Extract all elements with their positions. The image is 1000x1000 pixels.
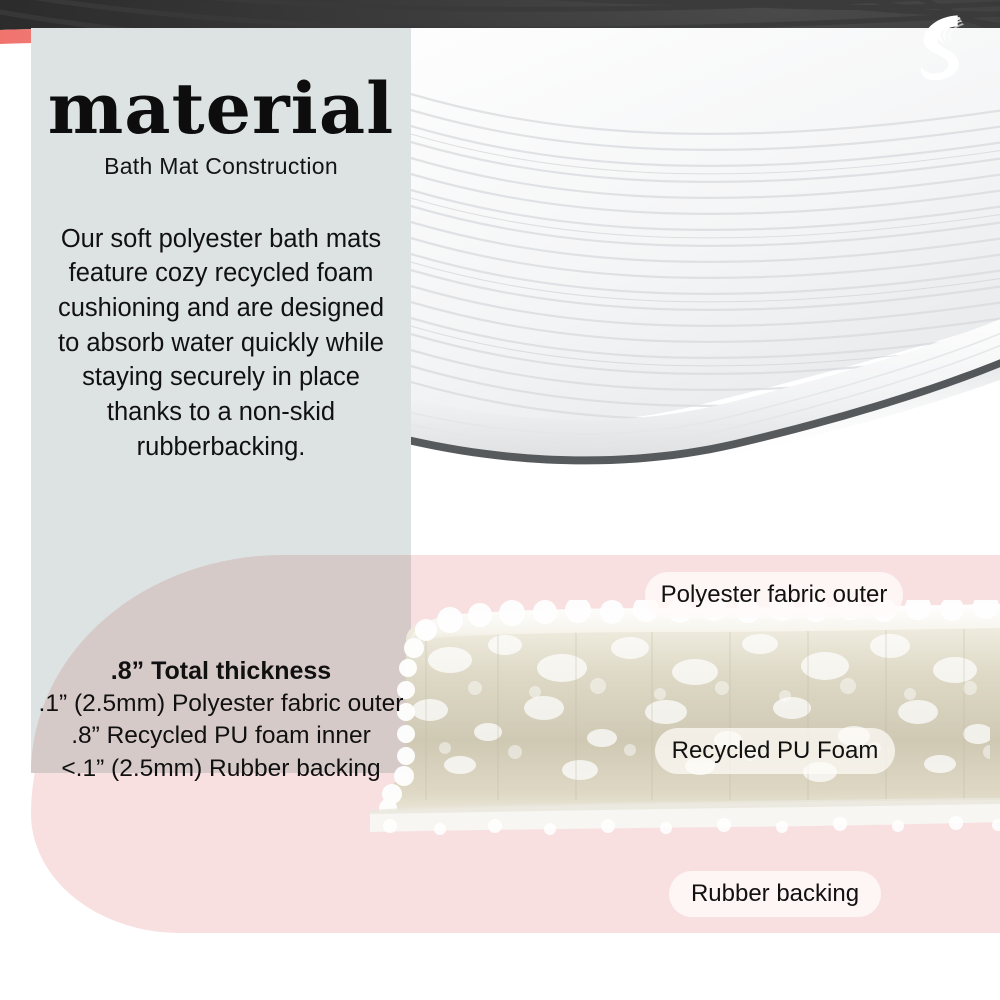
body-description: Our soft polyester bath mats feature coz… <box>47 222 395 465</box>
spec-line-foam: .8” Recycled PU foam inner <box>31 720 411 752</box>
page-title: material <box>44 76 399 143</box>
page-subtitle: Bath Mat Construction <box>47 153 395 180</box>
spec-heading: .8” Total thickness <box>31 655 411 688</box>
cross-section-photo <box>330 600 1000 860</box>
label-rubber-backing: Rubber backing <box>669 871 881 917</box>
panel-content: material Bath Mat Construction Our soft … <box>31 28 411 464</box>
infographic-page: material Bath Mat Construction Our soft … <box>0 0 1000 1000</box>
spec-line-fabric: .1” (2.5mm) Polyester fabric outer <box>31 688 411 720</box>
mat-photo-graphic <box>411 28 1000 555</box>
pill-label-text: Polyester fabric outer <box>661 581 888 609</box>
label-polyester-fabric-outer: Polyester fabric outer <box>645 572 903 618</box>
cross-section-graphic <box>330 600 1000 860</box>
swan-s-logo-icon <box>900 6 978 84</box>
label-recycled-pu-foam: Recycled PU Foam <box>655 728 895 774</box>
bath-mat-corner-photo <box>411 28 1000 555</box>
pill-label-text: Rubber backing <box>691 880 859 908</box>
pill-label-text: Recycled PU Foam <box>672 737 879 765</box>
spec-line-rubber: <.1” (2.5mm) Rubber backing <box>31 753 411 785</box>
thickness-spec-block: .8” Total thickness .1” (2.5mm) Polyeste… <box>31 655 411 785</box>
